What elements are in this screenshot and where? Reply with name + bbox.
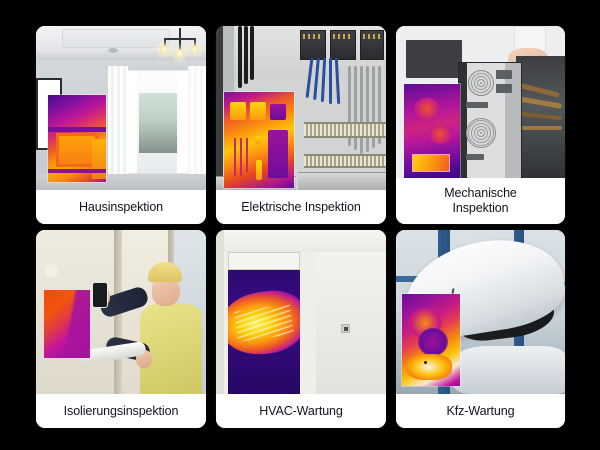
thermal-overlay-mechanische-inspektion	[404, 84, 460, 178]
thermal-overlay-kfz-wartung	[402, 294, 460, 386]
io-port	[466, 102, 488, 108]
card-label-elektrische-inspektion: Elektrische Inspektion	[216, 190, 386, 224]
card-image-kfz-wartung	[396, 230, 565, 394]
card-image-elektrische-inspektion	[216, 26, 386, 190]
card-hausinspektion[interactable]: Hausinspektion	[36, 26, 206, 224]
scene-open-computer	[396, 26, 565, 178]
interior-wall	[316, 230, 386, 394]
scene-interior-room	[36, 26, 206, 190]
card-image-hvac-wartung	[216, 230, 386, 394]
ceiling	[216, 230, 386, 252]
io-port	[496, 84, 512, 93]
card-label-isolierungsinspektion: Isolierungsinspektion	[36, 394, 206, 428]
card-label-hvac-wartung: HVAC-Wartung	[216, 394, 386, 428]
cable-black	[250, 26, 254, 80]
scene-car-workshop	[396, 230, 565, 394]
card-label-kfz-wartung: Kfz-Wartung	[396, 394, 565, 428]
use-case-card-grid: Hausinspektion	[36, 26, 565, 424]
card-label-mechanische-inspektion: Mechanische Inspektion	[396, 178, 565, 224]
thermal-overlay-isolierungsinspektion	[44, 290, 90, 358]
chandelier-icon	[158, 28, 204, 62]
smartphone-thermal-camera	[92, 282, 108, 308]
ceiling-inset	[62, 29, 170, 48]
io-port	[466, 154, 484, 160]
card-label-text: Elektrische Inspektion	[241, 200, 360, 215]
relay-module	[300, 30, 326, 60]
card-mechanische-inspektion[interactable]: Mechanische Inspektion	[396, 26, 565, 224]
terminal-strip	[304, 154, 386, 168]
din-rail	[298, 172, 386, 190]
card-label-text: Mechanische Inspektion	[444, 186, 517, 216]
card-kfz-wartung[interactable]: Kfz-Wartung	[396, 230, 565, 428]
card-label-text: Hausinspektion	[79, 200, 163, 215]
card-label-text: HVAC-Wartung	[259, 404, 343, 419]
dark-panel	[406, 40, 462, 78]
ceiling-spotlight-icon	[108, 48, 118, 53]
card-label-text: Isolierungsinspektion	[64, 404, 179, 419]
case-fan-icon	[466, 118, 496, 148]
relay-module	[330, 30, 356, 60]
scene-indoor-wall-vent	[216, 230, 386, 394]
thermal-overlay-elektrische-inspektion	[224, 92, 294, 188]
card-isolierungsinspektion[interactable]: Isolierungsinspektion	[36, 230, 206, 428]
relay-module	[360, 30, 384, 60]
wall-left-edge	[216, 230, 224, 394]
card-elektrische-inspektion[interactable]: Elektrische Inspektion	[216, 26, 386, 224]
card-label-text: Kfz-Wartung	[447, 404, 515, 419]
room-window	[120, 70, 194, 174]
curtain-right	[188, 66, 206, 182]
screenshot-root: Hausinspektion	[0, 0, 600, 450]
light-switch-icon	[341, 324, 350, 333]
vent-frame	[228, 252, 300, 270]
curtain-left	[108, 66, 128, 182]
case-fan-icon	[468, 70, 494, 96]
terminal-strip	[304, 122, 386, 138]
cable-blue	[329, 58, 332, 104]
io-port	[496, 70, 512, 79]
thermal-overlay-hvac-wartung	[228, 270, 300, 394]
card-image-mechanische-inspektion	[396, 26, 565, 178]
card-image-isolierungsinspektion	[36, 230, 206, 394]
scene-electrical-cabinet	[216, 26, 386, 190]
card-label-hausinspektion: Hausinspektion	[36, 190, 206, 224]
scene-insulation-wall	[36, 230, 206, 394]
card-image-hausinspektion	[36, 26, 206, 190]
cable-grey	[366, 66, 369, 152]
cable-bundle	[522, 126, 562, 130]
cable-black	[238, 26, 242, 88]
car-body	[454, 346, 565, 394]
cable-black	[244, 26, 248, 84]
card-hvac-wartung[interactable]: HVAC-Wartung	[216, 230, 386, 428]
thermal-overlay-hausinspektion	[48, 95, 106, 182]
cable-grey	[360, 66, 363, 154]
